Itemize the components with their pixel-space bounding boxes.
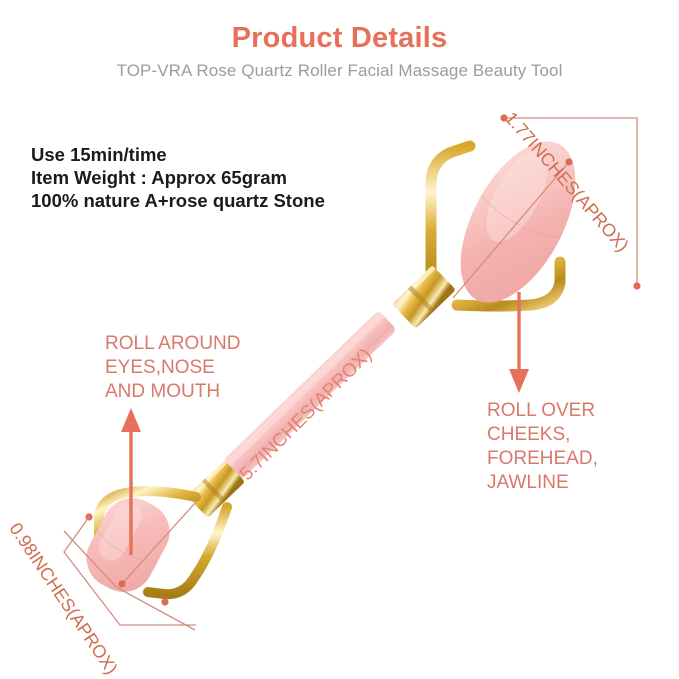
annotation-right-line4: JAWLINE xyxy=(487,471,598,495)
small-roller-assembly xyxy=(76,460,245,602)
annotation-right-line3: FOREHEAD, xyxy=(487,447,598,471)
large-roller-assembly xyxy=(392,123,599,329)
annotation-left-line1: ROLL AROUND xyxy=(105,332,241,356)
roller-illustration xyxy=(0,0,679,679)
annotation-left-line2: EYES,NOSE xyxy=(105,356,241,380)
annotation-right-line1: ROLL OVER xyxy=(487,399,598,423)
annotation-left-line3: AND MOUTH xyxy=(105,380,241,404)
product-infographic: Product Details TOP-VRA Rose Quartz Roll… xyxy=(0,0,679,679)
annotation-right-line2: CHEEKS, xyxy=(487,423,598,447)
annotation-right: ROLL OVER CHEEKS, FOREHEAD, JAWLINE xyxy=(487,399,598,495)
annotation-left: ROLL AROUND EYES,NOSE AND MOUTH xyxy=(105,332,241,404)
